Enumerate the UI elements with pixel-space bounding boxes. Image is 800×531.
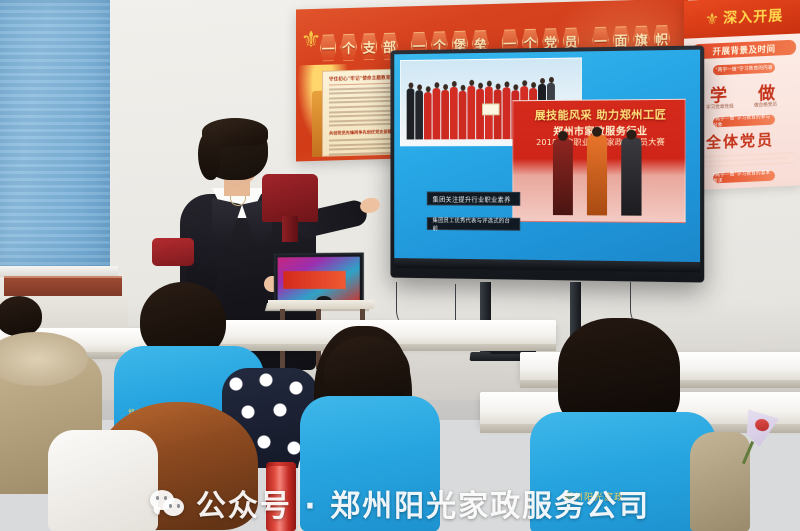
poster-band: 开展背景及时间 [692,40,796,60]
poster-caption-1: 学习党章党规 [706,103,734,110]
slide-bullet-2: 集团员工优秀代表与评选式的台前 [427,217,520,231]
vest-company-text: 郑州阳光家政 [564,490,624,503]
poster-tag-2: "两学一做"学习教育的参与对象 [713,115,775,128]
poster-caption-2: 做合格党员 [754,102,777,109]
screenshot-root: ⚜ 一 个 支 部 一 个 堡 垒 一 个 党 员 一 面 旗 帜 ❃ ❃ [0,0,800,531]
slide-bullet-1: 集团关注提升行业职业素养 [427,192,520,206]
poster-big-1: 学 [710,81,729,107]
poster-big-3: 全体党员 [706,129,774,153]
award-person-center [587,135,607,216]
poster-big-2: 做 [758,79,777,105]
presenter-side-hair [198,132,220,180]
poster-header: ⚜ 深入开展 [684,0,800,39]
tv-bezel-bottom [394,258,700,272]
slogan-char: 一 [320,34,336,61]
certificate-in-photo [482,103,500,115]
slogan-char: 个 [340,33,356,60]
blue-vest [530,412,716,531]
white-quilted-coat [48,430,158,531]
window-frame [4,276,122,298]
award-person-right [621,138,641,216]
red-chair-stem [282,216,298,242]
poster-tag-3: "两学一做"学习教育的基本要求 [713,171,775,184]
slide-award-photo: 展技能风采 助力郑州工匠 郑州市家政服务行业 2018年度职业技能家政服务员大赛 [512,99,685,223]
slogan-char: 支 [361,33,377,60]
red-bag [152,238,194,266]
thermos-flask[interactable] [266,466,296,531]
hammer-sickle-icon: ⚜ [705,9,719,29]
television-display[interactable]: 展技能风采 助力郑州工匠 郑州市家政服务行业 2018年度职业技能家政服务员大赛… [390,45,704,282]
poster-tag-1: "两学一做"学习教育的内容 [713,63,775,76]
award-title-line1: 展技能风采 助力郑州工匠 [521,106,680,123]
red-chair-back [262,174,318,222]
poster-header-text: 深入开展 [723,5,783,28]
audience-member-7: 郑州阳光家政 [530,318,716,531]
audience-member-6 [284,336,444,531]
tv-screen: 展技能风采 助力郑州工匠 郑州市家政服务行业 2018年度职业技能家政服务员大赛… [394,50,700,273]
side-table [268,300,374,309]
blue-vest [300,396,440,531]
award-person-left [553,139,573,215]
window-blind [0,0,110,268]
flower-stem [742,441,754,464]
